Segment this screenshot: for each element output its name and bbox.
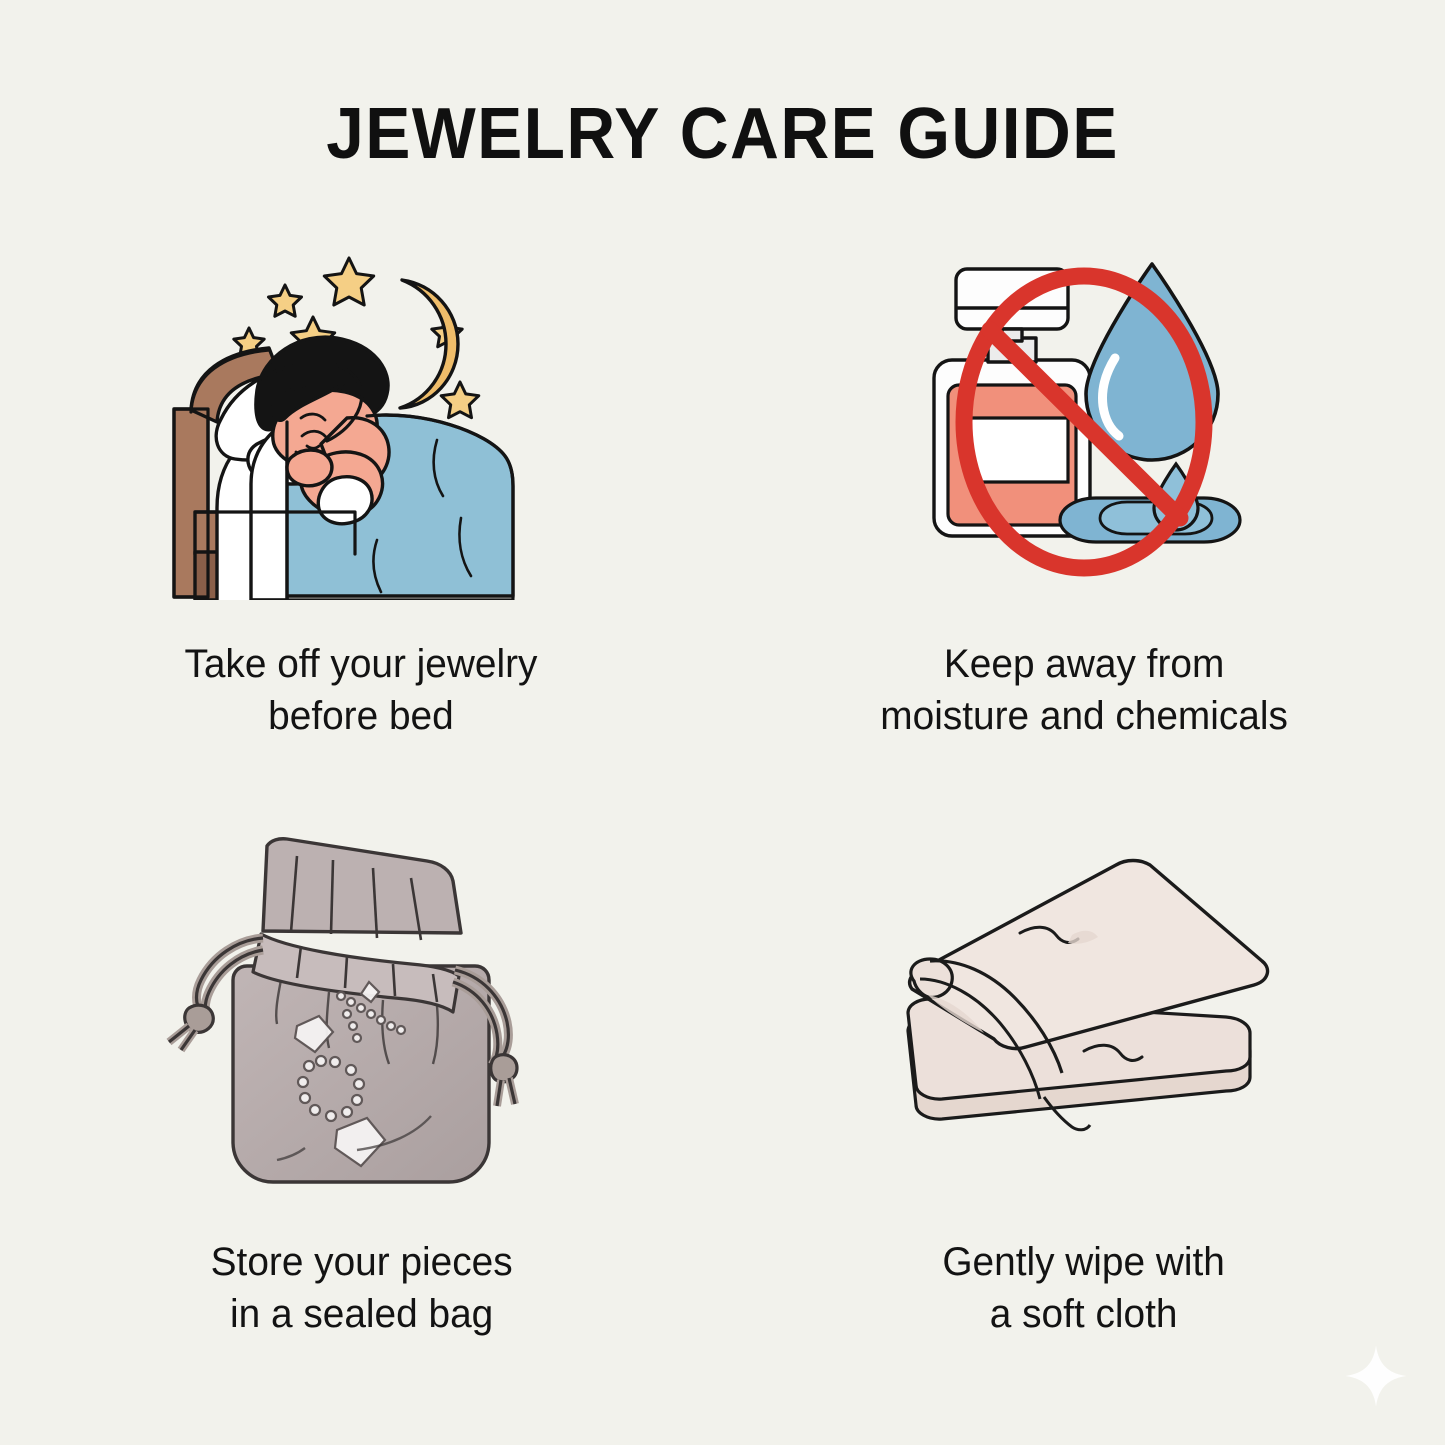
care-card-caption: Keep away from moisture and chemicals [880, 638, 1288, 742]
sleeping-woman-in-bed-icon [0, 230, 723, 610]
care-card-keep-away-from-moisture: Keep away from moisture and chemicals [723, 230, 1445, 820]
jewelry-care-guide-page: JEWELRY CARE GUIDE [0, 0, 1445, 1445]
care-card-caption: Take off your jewelry before bed [185, 638, 538, 742]
care-card-caption: Gently wipe with a soft cloth [942, 1236, 1224, 1340]
caption-line-2: a soft cloth [942, 1288, 1224, 1340]
caption-line-1: Take off your jewelry [185, 642, 538, 686]
caption-line-2: in a sealed bag [210, 1288, 512, 1340]
care-card-caption: Store your pieces in a sealed bag [210, 1236, 512, 1340]
caption-line-1: Keep away from [944, 642, 1224, 686]
care-card-take-off-before-bed: Take off your jewelry before bed [0, 230, 723, 820]
caption-line-2: before bed [185, 690, 538, 742]
folded-soft-cloth-icon [723, 820, 1445, 1210]
page-title: JEWELRY CARE GUIDE [43, 98, 1401, 170]
caption-line-2: moisture and chemicals [880, 690, 1288, 742]
care-card-wipe-with-soft-cloth: Gently wipe with a soft cloth [723, 820, 1445, 1410]
sparkle-icon [1343, 1343, 1409, 1409]
drawstring-jewelry-pouch-icon [0, 820, 723, 1210]
caption-line-1: Store your pieces [210, 1240, 512, 1284]
caption-line-1: Gently wipe with [942, 1240, 1224, 1284]
care-tips-grid: Take off your jewelry before bed [0, 230, 1445, 1410]
care-card-store-in-sealed-bag: Store your pieces in a sealed bag [0, 820, 723, 1410]
perfume-bottle-water-drop-prohibited-icon [723, 230, 1445, 610]
